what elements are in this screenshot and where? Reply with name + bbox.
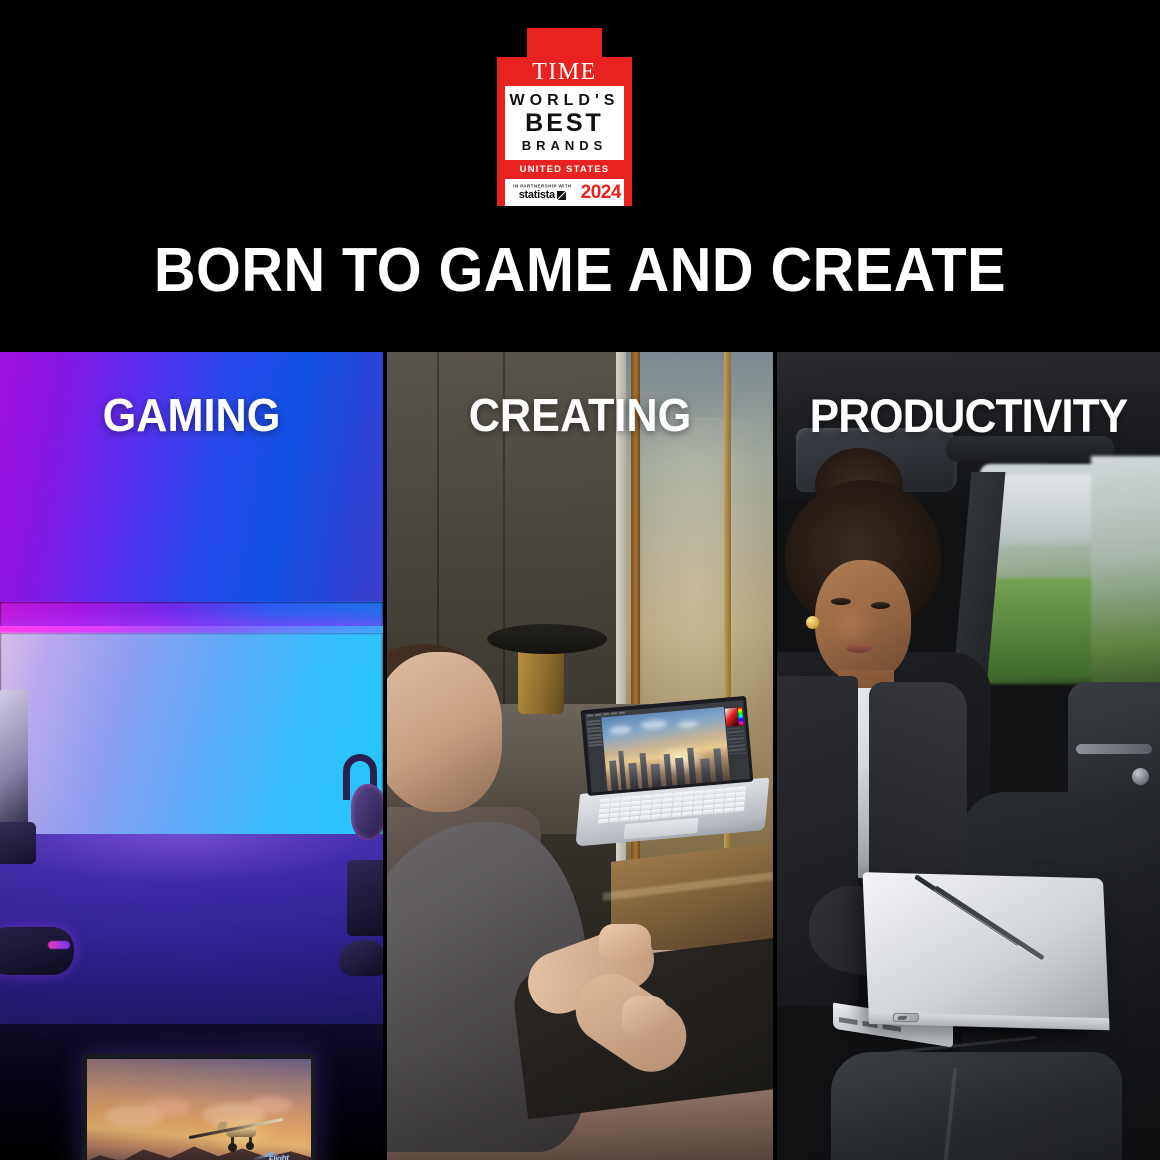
badge-year-label: 2024: [581, 182, 621, 204]
game-cloud: [145, 1098, 191, 1117]
statista-wordmark: statista: [519, 189, 555, 201]
desk-object-left: [0, 690, 28, 840]
person-eye-right: [871, 602, 890, 609]
panel-creating: CREATING: [387, 352, 773, 1160]
hue-slider[interactable]: [738, 707, 744, 725]
color-field: [725, 707, 739, 726]
panel-productivity: PRODUCTIVITY: [777, 352, 1160, 1160]
canvas-building: [639, 753, 648, 787]
menu-item: [586, 714, 592, 717]
panel-label-productivity: PRODUCTIVITY: [788, 388, 1148, 443]
laptop-screen: GAME PASS Flight Simulator: [87, 1059, 311, 1160]
promo-banner: TIME WORLD'S BEST BRANDS UNITED STATES I…: [0, 0, 1160, 1160]
led-light-strip: [0, 626, 383, 633]
panel-label-creating: CREATING: [399, 388, 762, 442]
laptop-lid: GAME PASS Flight Simulator ROG ZEPHYRUS: [82, 1054, 316, 1160]
editor-canvas-cityscape: [600, 706, 729, 790]
canvas-cloud: [640, 719, 667, 730]
desk-speaker-left: [0, 822, 36, 864]
game-controller: [0, 927, 74, 975]
canvas-building: [609, 760, 619, 790]
laptop-lid-rear: [862, 872, 1109, 1028]
game-cloud: [248, 1096, 292, 1114]
person-hand-touchpad: [622, 996, 668, 1038]
statista-lockup: statista: [519, 189, 566, 201]
stool-base: [518, 644, 564, 714]
badge-year-block: 2024: [578, 182, 624, 204]
panel-label-gaming: GAMING: [11, 388, 371, 442]
badge-partner-block: IN PARTNERSHIP WITH statista: [505, 184, 578, 201]
badge-line-worlds: WORLD'S: [510, 92, 620, 110]
airplane-wheel: [249, 1137, 252, 1144]
headset-earcup: [351, 784, 383, 840]
round-stool-top: [487, 624, 607, 654]
person-lips: [846, 644, 872, 653]
badge-award-title: WORLD'S BEST BRANDS: [505, 86, 624, 160]
canvas-building: [700, 758, 711, 782]
time-logo-text: TIME: [532, 60, 597, 84]
car-side-window-rear: [1091, 456, 1160, 706]
person-cheek-highlight: [827, 602, 875, 646]
canvas-building: [713, 748, 723, 781]
badge-upper-card: TIME WORLD'S BEST BRANDS: [505, 57, 624, 160]
menu-item: [610, 712, 616, 715]
game-airplane: [188, 1118, 284, 1148]
canvas-building: [628, 763, 638, 789]
person-trousers: [831, 1052, 1122, 1160]
menu-item: [602, 713, 608, 716]
canvas-cloud: [677, 720, 698, 729]
menu-item: [594, 714, 600, 717]
person-hand-keyboard: [599, 924, 651, 960]
badge-notch-right: [602, 28, 632, 57]
creator-laptop-lid: [580, 696, 753, 796]
panel-gaming: GAME PASS Flight Simulator ROG ZEPHYRUS …: [0, 352, 383, 1160]
badge-line-best: BEST: [525, 111, 604, 136]
person-eye-left: [831, 598, 851, 605]
badge-country-label: UNITED STATES: [520, 164, 610, 175]
canvas-building: [618, 751, 626, 790]
rog-logo-icon: [893, 1013, 919, 1023]
statista-logo-icon: [557, 191, 566, 200]
editor-body: [584, 705, 749, 793]
badge-notch-left: [497, 28, 527, 57]
menu-item: [618, 712, 624, 715]
person-head: [387, 652, 502, 812]
desk-object-right: [347, 860, 383, 936]
time-logo-band: TIME: [505, 57, 624, 86]
canvas-building: [650, 764, 661, 787]
canvas-cloud: [609, 725, 632, 735]
page-title: BORN TO GAME AND CREATE: [41, 240, 1120, 302]
badge-lower-card: IN PARTNERSHIP WITH statista 2024: [505, 179, 624, 206]
gaming-headset: [339, 750, 383, 868]
airplane-wheel: [231, 1137, 234, 1145]
desk-light-glow: [0, 834, 383, 904]
gaming-mouse: [339, 940, 383, 976]
door-lock-knob[interactable]: [1132, 768, 1149, 785]
badge-country-band: UNITED STATES: [505, 162, 624, 177]
color-picker: [725, 707, 744, 726]
panel-row: GAME PASS Flight Simulator ROG ZEPHYRUS …: [0, 352, 1160, 1160]
badge-line-brands: BRANDS: [522, 138, 608, 154]
lid-slash-vent-lower: [934, 885, 1044, 960]
time-worlds-best-brands-badge: TIME WORLD'S BEST BRANDS UNITED STATES I…: [497, 28, 632, 206]
person-earring: [806, 616, 819, 629]
rgb-wall-lower: [0, 633, 383, 838]
door-trim-chrome: [1076, 744, 1153, 754]
photo-editor-screen: [584, 700, 749, 793]
badge-partnership-label: IN PARTNERSHIP WITH: [513, 184, 572, 189]
